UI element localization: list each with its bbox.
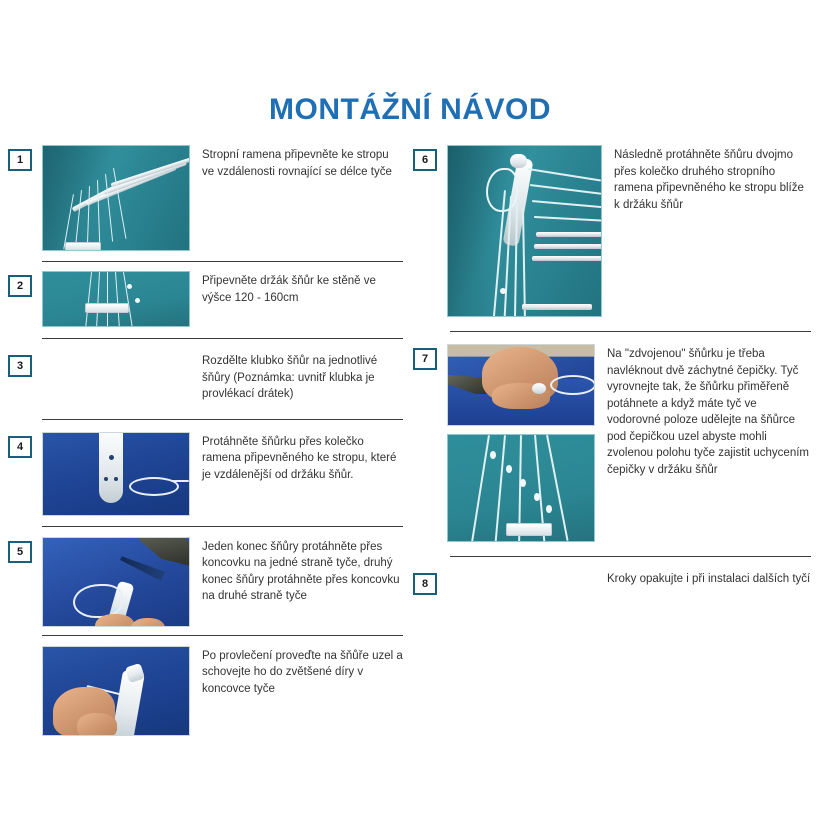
step-caption: Kroky opakujte i při instalaci dalších t… [607,569,811,588]
page-title: MONTÁŽNÍ NÁVOD [0,93,820,127]
caps-hand-photo [447,344,595,426]
step-number-badge: 1 [8,149,32,171]
step-caption: Na "zdvojenou" šňůrku je třeba navléknou… [607,344,811,478]
step-number-badge: 3 [8,355,32,377]
step-caption: Jeden konec šňůry protáhněte přes koncov… [202,537,403,605]
step-caption: Následně protáhněte šňůru dvojmo přes ko… [614,145,811,213]
section-divider [42,635,403,636]
step-5: 5 Jeden konec šňůry protáhněte přes konc… [8,537,403,636]
step-number-badge: 4 [8,436,32,458]
cord-holder-wall-photo [42,271,190,327]
step-caption: Po provlečení proveďte na šňůře uzel a s… [202,646,403,698]
ceiling-arms-photo [42,145,190,251]
step-caption: Stropní ramena připevněte ke stropu ve v… [202,145,403,180]
pliers-cord-photo [42,537,190,627]
right-column: 6 Následně protáhn [413,145,811,595]
cord-holder-caps-photo [447,434,595,542]
step-caption: Připevněte držák šňůr ke stěně ve výšce … [202,271,403,306]
step-number-badge: 8 [413,573,437,595]
section-divider [42,261,403,262]
arm-pulley-photo [42,432,190,516]
step-knot: Po provlečení proveďte na šňůře uzel a s… [8,646,403,736]
figure-placeholder [447,569,595,570]
section-divider [42,338,403,339]
step-7-figure-stack [447,344,595,542]
step-4: 4 Protáhněte šňůrku přes kolečko ramena … [8,432,403,527]
step-caption: Rozdělte klubko šňůr na jednotlivé šňůry… [202,351,403,403]
step-8: 8 Kroky opakujte i při instalaci dalších… [413,569,811,595]
step-number-badge: 7 [413,348,437,370]
second-arm-photo [447,145,602,317]
section-divider [450,331,811,332]
knot-endcap-photo [42,646,190,736]
step-7: 7 [413,344,811,557]
step-2: 2 Připevněte držák šňůr ke stěně ve výšc… [8,271,403,339]
step-caption: Protáhněte šňůrku přes kolečko ramena př… [202,432,403,484]
step-3: 3 Rozdělte klubko šňůr na jednotlivé šňů… [8,351,403,420]
step-6: 6 Následně protáhn [413,145,811,332]
step-number-badge: 6 [413,149,437,171]
section-divider [450,556,811,557]
left-column: 1 Stropní ramena připevněte ke stropu ve… [8,145,403,736]
step-number-badge: 2 [8,275,32,297]
step-1: 1 Stropní ramena připevněte ke stropu ve… [8,145,403,262]
section-divider [42,526,403,527]
section-divider [42,419,403,420]
figure-placeholder [42,351,190,352]
step-number-badge: 5 [8,541,32,563]
